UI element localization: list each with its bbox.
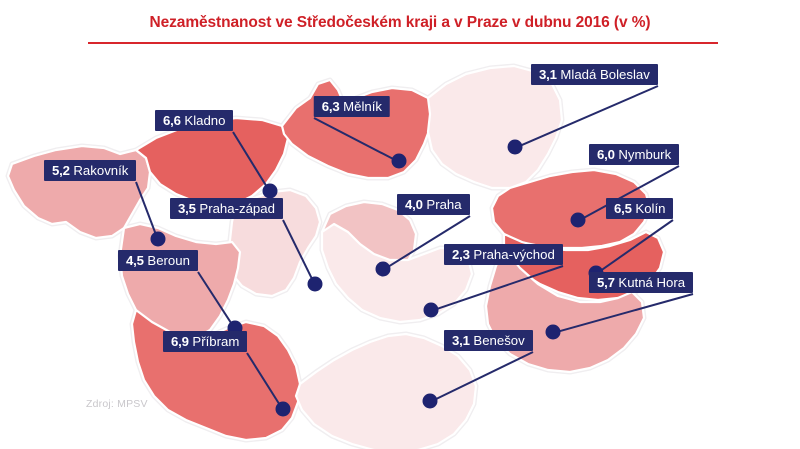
map-label-name-praha-v-chod: Praha-východ	[473, 247, 554, 262]
map-label-value-nymburk: 6,0	[597, 147, 615, 162]
map-label-value-kol-n: 6,5	[614, 201, 632, 216]
map-pin-mlad-boleslav[interactable]	[508, 140, 523, 155]
map-label-name-praha: Praha	[426, 197, 461, 212]
map-label-name-p-bram: Příbram	[192, 334, 239, 349]
map-label-praha-z-pad[interactable]: 3,5 Praha-západ	[170, 198, 283, 219]
map-label-value-bene-ov: 3,1	[452, 333, 470, 348]
map-region-shapes	[8, 66, 664, 449]
map-svg	[0, 46, 800, 449]
map-label-kol-n[interactable]: 6,5 Kolín	[606, 198, 673, 219]
map-pin-p-bram[interactable]	[276, 402, 291, 417]
map-label-m-ln-k[interactable]: 6,3 Mělník	[314, 96, 390, 117]
map-pin-praha-z-pad[interactable]	[308, 277, 323, 292]
map-label-bene-ov[interactable]: 3,1 Benešov	[444, 330, 533, 351]
map-label-name-mlad-boleslav: Mladá Boleslav	[560, 67, 649, 82]
map-label-beroun[interactable]: 4,5 Beroun	[118, 250, 198, 271]
map-label-p-bram[interactable]: 6,9 Příbram	[163, 331, 247, 352]
map-label-rakovn-k[interactable]: 5,2 Rakovník	[44, 160, 136, 181]
map-pin-rakovn-k[interactable]	[151, 232, 166, 247]
map-label-value-mlad-boleslav: 3,1	[539, 67, 557, 82]
map-label-praha-v-chod[interactable]: 2,3 Praha-východ	[444, 244, 563, 265]
source-note: Zdroj: MPSV	[86, 398, 148, 410]
map-pin-kutn-hora[interactable]	[546, 325, 561, 340]
map-label-kutn-hora[interactable]: 5,7 Kutná Hora	[589, 272, 693, 293]
map-label-nymburk[interactable]: 6,0 Nymburk	[589, 144, 679, 165]
map-label-kladno[interactable]: 6,6 Kladno	[155, 110, 233, 131]
map-label-value-p-bram: 6,9	[171, 334, 189, 349]
map-label-name-kol-n: Kolín	[635, 201, 665, 216]
map-label-name-m-ln-k: Mělník	[343, 99, 382, 114]
map-label-name-kladno: Kladno	[184, 113, 225, 128]
map-label-value-kutn-hora: 5,7	[597, 275, 615, 290]
map-label-value-praha-v-chod: 2,3	[452, 247, 470, 262]
map-pin-m-ln-k[interactable]	[392, 154, 407, 169]
map-label-value-rakovn-k: 5,2	[52, 163, 70, 178]
map-label-name-rakovn-k: Rakovník	[73, 163, 128, 178]
map-label-praha[interactable]: 4,0 Praha	[397, 194, 470, 215]
map-label-name-nymburk: Nymburk	[618, 147, 671, 162]
map-label-value-m-ln-k: 6,3	[322, 99, 340, 114]
map-pin-bene-ov[interactable]	[423, 394, 438, 409]
map-pin-nymburk[interactable]	[571, 213, 586, 228]
map-label-value-kladno: 6,6	[163, 113, 181, 128]
map-pin-praha-v-chod[interactable]	[424, 303, 439, 318]
map-pin-praha[interactable]	[376, 262, 391, 277]
title-divider	[88, 42, 718, 44]
page-title: Nezaměstnanost ve Středočeském kraji a v…	[0, 14, 800, 32]
map-region-p-bram[interactable]	[132, 310, 300, 440]
infographic-root: Nezaměstnanost ve Středočeském kraji a v…	[0, 0, 800, 449]
map-label-name-beroun: Beroun	[147, 253, 190, 268]
map-label-name-kutn-hora: Kutná Hora	[618, 275, 685, 290]
map-label-mlad-boleslav[interactable]: 3,1 Mladá Boleslav	[531, 64, 658, 85]
map-label-value-beroun: 4,5	[126, 253, 144, 268]
map-pin-kladno[interactable]	[263, 184, 278, 199]
choropleth-map	[0, 46, 800, 449]
map-label-name-bene-ov: Benešov	[473, 333, 524, 348]
map-label-value-praha: 4,0	[405, 197, 423, 212]
map-label-name-praha-z-pad: Praha-západ	[199, 201, 275, 216]
map-label-value-praha-z-pad: 3,5	[178, 201, 196, 216]
